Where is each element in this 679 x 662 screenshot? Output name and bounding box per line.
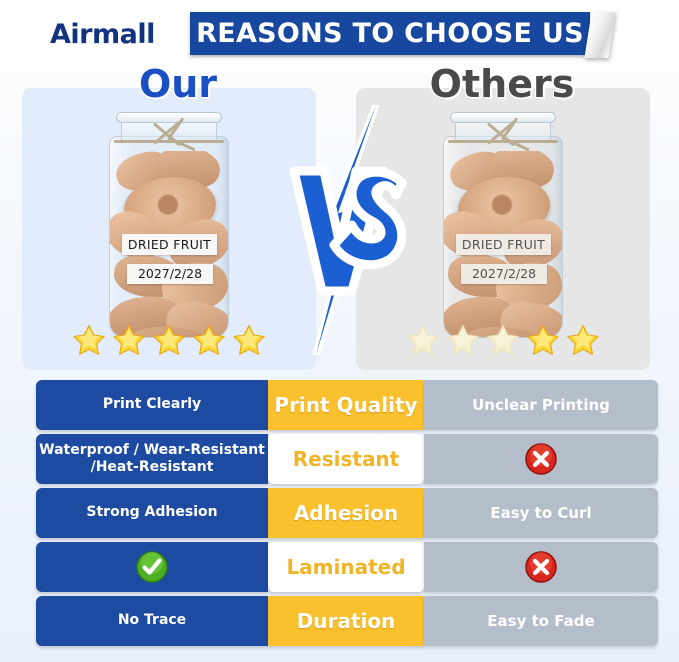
star-icon [192,323,226,356]
product-label-name: DRIED FRUIT [122,234,217,255]
table-cell-feature: Resistant [268,434,424,484]
table-row: Waterproof / Wear-Resistant/Heat-Resista… [0,434,679,484]
brand-logo: Airmall [50,19,155,50]
star-icon [566,323,600,356]
table-cell-our: No Trace [36,596,268,646]
star-icon [112,323,146,356]
table-cell-feature: Print Quality [268,380,424,430]
product-panel-our: DRIED FRUIT 2027/2/28 [22,88,316,370]
column-title-our: Our [28,62,328,106]
table-cell-others: Easy to Curl [424,488,658,538]
table-cell-feature: Duration [268,596,424,646]
comparison-table: Print ClearlyPrint QualityUnclear Printi… [0,380,679,658]
product-panel-others: DRIED FRUIT 2027/2/28 [356,88,650,370]
table-row: Strong AdhesionAdhesionEasy to Curl [0,488,679,538]
table-cell-others-label: Easy to Curl [490,504,591,522]
table-cell-others [424,542,658,592]
star-icon [446,323,480,356]
twine-bow-icon [114,124,224,154]
table-row: No TraceDurationEasy to Fade [0,596,679,646]
headline-text: REASONS TO CHOOSE US [190,12,590,55]
table-cell-our: Strong Adhesion [36,488,268,538]
jar-of-dried-fruit-image-others: DRIED FRUIT 2027/2/28 [428,110,578,342]
table-cell-others [424,434,658,484]
table-cell-others-label: Easy to Fade [487,612,594,630]
cross-icon [524,442,558,476]
table-cell-feature: Adhesion [268,488,424,538]
table-cell-feature: Laminated [268,542,424,592]
check-icon [135,550,169,584]
table-cell-others: Unclear Printing [424,380,658,430]
table-cell-our-label: No Trace [118,612,186,629]
table-cell-our-label: Print Clearly [103,396,201,413]
star-icon [486,323,520,356]
jar-rim [450,112,556,123]
cross-icon [524,550,558,584]
product-label-date: 2027/2/28 [461,264,547,284]
star-icon [152,323,186,356]
headline-banner: REASONS TO CHOOSE US [190,12,590,55]
star-icon [406,323,440,356]
table-cell-our: Waterproof / Wear-Resistant/Heat-Resista… [36,434,268,484]
table-cell-others: Easy to Fade [424,596,658,646]
twine-bow-icon [448,124,558,154]
table-row: Laminated [0,542,679,592]
star-icon [72,323,106,356]
table-cell-our [36,542,268,592]
star-icon [526,323,560,356]
table-cell-others-label: Unclear Printing [472,396,610,414]
product-label-date: 2027/2/28 [127,264,213,284]
page-header: Airmall REASONS TO CHOOSE US [0,8,679,56]
product-label-name: DRIED FRUIT [456,234,551,255]
star-icon [232,323,266,356]
jar-of-dried-fruit-image-our: DRIED FRUIT 2027/2/28 [94,110,244,342]
rating-stars-others [356,323,650,356]
column-title-others: Others [352,62,652,106]
rating-stars-our [22,323,316,356]
table-row: Print ClearlyPrint QualityUnclear Printi… [0,380,679,430]
table-cell-our-label: Waterproof / Wear-Resistant/Heat-Resista… [39,442,265,476]
table-cell-our-label: Strong Adhesion [86,504,217,521]
table-cell-our: Print Clearly [36,380,268,430]
jar-rim [116,112,222,123]
